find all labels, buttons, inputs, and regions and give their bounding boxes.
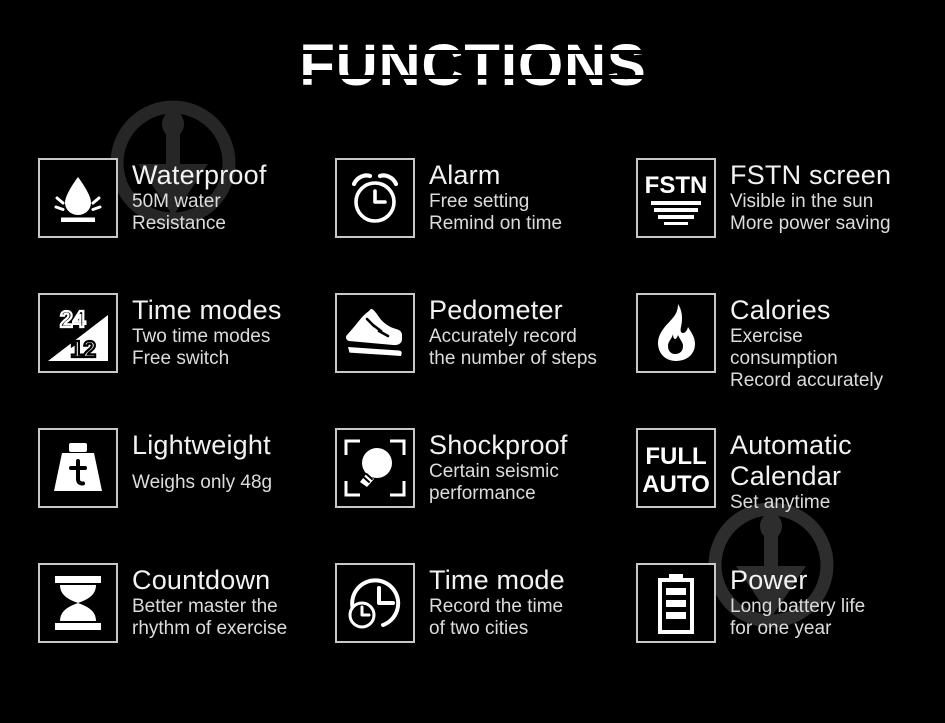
- feature-desc: Accurately record the number of steps: [429, 326, 597, 370]
- water-drop-icon: [38, 158, 118, 238]
- feature-text: Countdown Better master the rhythm of ex…: [132, 563, 287, 640]
- feature-item-countdown[interactable]: Countdown Better master the rhythm of ex…: [0, 550, 300, 685]
- feature-item-time-mode[interactable]: Time mode Record the time of two cities: [300, 550, 600, 685]
- alarm-clock-icon: [335, 158, 415, 238]
- battery-icon: [636, 563, 716, 643]
- features-grid: Waterproof 50M water Resistance Alarm Fr…: [0, 145, 945, 685]
- feature-desc: Two time modes Free switch: [132, 326, 282, 370]
- feature-text: Calories Exercise consumption Record acc…: [730, 293, 905, 392]
- feature-title: Calories: [730, 295, 905, 325]
- feature-title: Automatic Calendar: [730, 430, 852, 492]
- feature-text: Time modes Two time modes Free switch: [132, 293, 282, 370]
- feature-title: Shockproof: [429, 430, 568, 460]
- fstn-icon-label: FSTN: [645, 172, 708, 199]
- feature-text: Lightweight Weighs only 48g: [132, 428, 272, 494]
- dual-clock-icon: [335, 563, 415, 643]
- feature-title: Time modes: [132, 295, 282, 325]
- feature-text: Pedometer Accurately record the number o…: [429, 293, 597, 370]
- feature-desc: Visible in the sun More power saving: [730, 191, 891, 235]
- feature-desc: Better master the rhythm of exercise: [132, 596, 287, 640]
- feature-item-automatic-calendar[interactable]: FULL AUTO Automatic Calendar Set anytime: [600, 415, 905, 550]
- full-auto-label-bottom: AUTO: [642, 471, 710, 498]
- feature-item-calories[interactable]: Calories Exercise consumption Record acc…: [600, 280, 905, 415]
- fstn-screen-icon: FSTN: [636, 158, 716, 238]
- page-title: FUNCTIONS: [0, 30, 945, 100]
- weight-icon: [38, 428, 118, 508]
- feature-title: Countdown: [132, 565, 287, 595]
- feature-title: Pedometer: [429, 295, 597, 325]
- feature-desc: Free setting Remind on time: [429, 191, 562, 235]
- feature-text: Alarm Free setting Remind on time: [429, 158, 562, 235]
- feature-desc: 50M water Resistance: [132, 191, 267, 235]
- feature-item-power[interactable]: Power Long battery life for one year: [600, 550, 905, 685]
- full-auto-icon: FULL AUTO: [636, 428, 716, 508]
- full-auto-label-top: FULL: [645, 443, 706, 470]
- feature-text: Automatic Calendar Set anytime: [730, 428, 852, 514]
- sneaker-icon: [335, 293, 415, 373]
- feature-text: Shockproof Certain seismic performance: [429, 428, 568, 505]
- hourglass-icon: [38, 563, 118, 643]
- feature-title: Alarm: [429, 160, 562, 190]
- feature-desc: Exercise consumption Record accurately: [730, 326, 905, 392]
- feature-item-time-modes[interactable]: 24 12 Time modes Two time modes Free swi…: [0, 280, 300, 415]
- feature-title: Time mode: [429, 565, 565, 595]
- feature-desc: Long battery life for one year: [730, 596, 865, 640]
- feature-item-lightweight[interactable]: Lightweight Weighs only 48g: [0, 415, 300, 550]
- feature-desc: Certain seismic performance: [429, 461, 568, 505]
- feature-desc: Set anytime: [730, 492, 852, 514]
- feature-title: Power: [730, 565, 865, 595]
- page-title-text: FUNCTIONS: [299, 33, 646, 98]
- feature-item-waterproof[interactable]: Waterproof 50M water Resistance: [0, 145, 300, 280]
- feature-item-pedometer[interactable]: Pedometer Accurately record the number o…: [300, 280, 600, 415]
- feature-text: FSTN screen Visible in the sun More powe…: [730, 158, 891, 235]
- page-title-stencil: FUNCTIONS: [293, 30, 653, 100]
- flame-icon: [636, 293, 716, 373]
- feature-item-fstn-screen[interactable]: FSTN FSTN screen Visible in the sun More…: [600, 145, 905, 280]
- feature-text: Waterproof 50M water Resistance: [132, 158, 267, 235]
- time-modes-label-bottom: 12: [70, 336, 96, 362]
- feature-desc: Weighs only 48g: [132, 472, 272, 494]
- feature-item-alarm[interactable]: Alarm Free setting Remind on time: [300, 145, 600, 280]
- feature-text: Time mode Record the time of two cities: [429, 563, 565, 640]
- feature-title: Lightweight: [132, 430, 272, 460]
- feature-desc: Record the time of two cities: [429, 596, 565, 640]
- feature-text: Power Long battery life for one year: [730, 563, 865, 640]
- time-modes-label-top: 24: [60, 306, 86, 332]
- lightbulb-bracket-icon: [335, 428, 415, 508]
- feature-title: Waterproof: [132, 160, 267, 190]
- feature-item-shockproof[interactable]: Shockproof Certain seismic performance: [300, 415, 600, 550]
- time-modes-icon: 24 12: [38, 293, 118, 373]
- feature-title: FSTN screen: [730, 160, 891, 190]
